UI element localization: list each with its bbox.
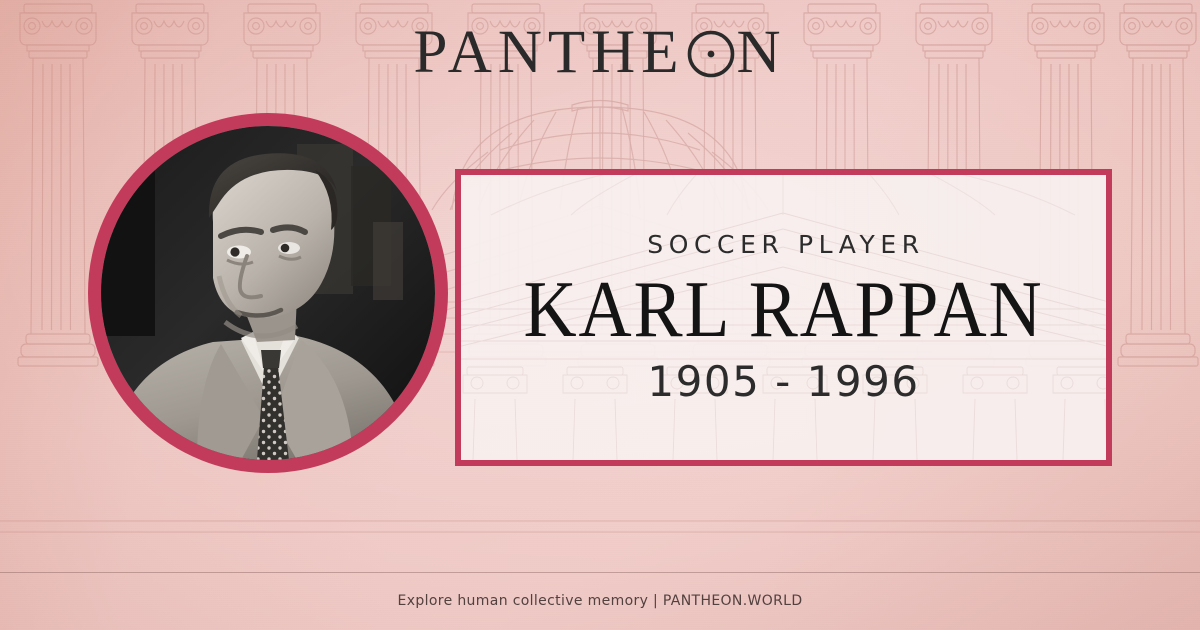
circle-dot-o-icon — [686, 29, 736, 79]
footer: Explore human collective memory | PANTHE… — [0, 592, 1200, 610]
brand-name-text-tail: N — [736, 22, 786, 83]
brand-wordmark[interactable]: PANTHE N — [0, 22, 1200, 83]
portrait-photo — [101, 126, 435, 460]
brand-name-text: PANTHE — [413, 22, 684, 83]
life-dates: 1905 - 1996 — [461, 359, 1106, 405]
page-title: KARL RAPPAN — [487, 267, 1080, 353]
pantheon-profile-card: PANTHE N — [0, 0, 1200, 630]
avatar[interactable] — [88, 113, 448, 473]
footer-text[interactable]: Explore human collective memory | PANTHE… — [398, 593, 803, 609]
footer-divider — [0, 572, 1200, 573]
card-content: SOCCER PLAYER KARL RAPPAN 1905 - 1996 — [461, 230, 1106, 406]
profile-info-card: SOCCER PLAYER KARL RAPPAN 1905 - 1996 — [455, 169, 1112, 466]
occupation-label: SOCCER PLAYER — [461, 230, 1106, 259]
